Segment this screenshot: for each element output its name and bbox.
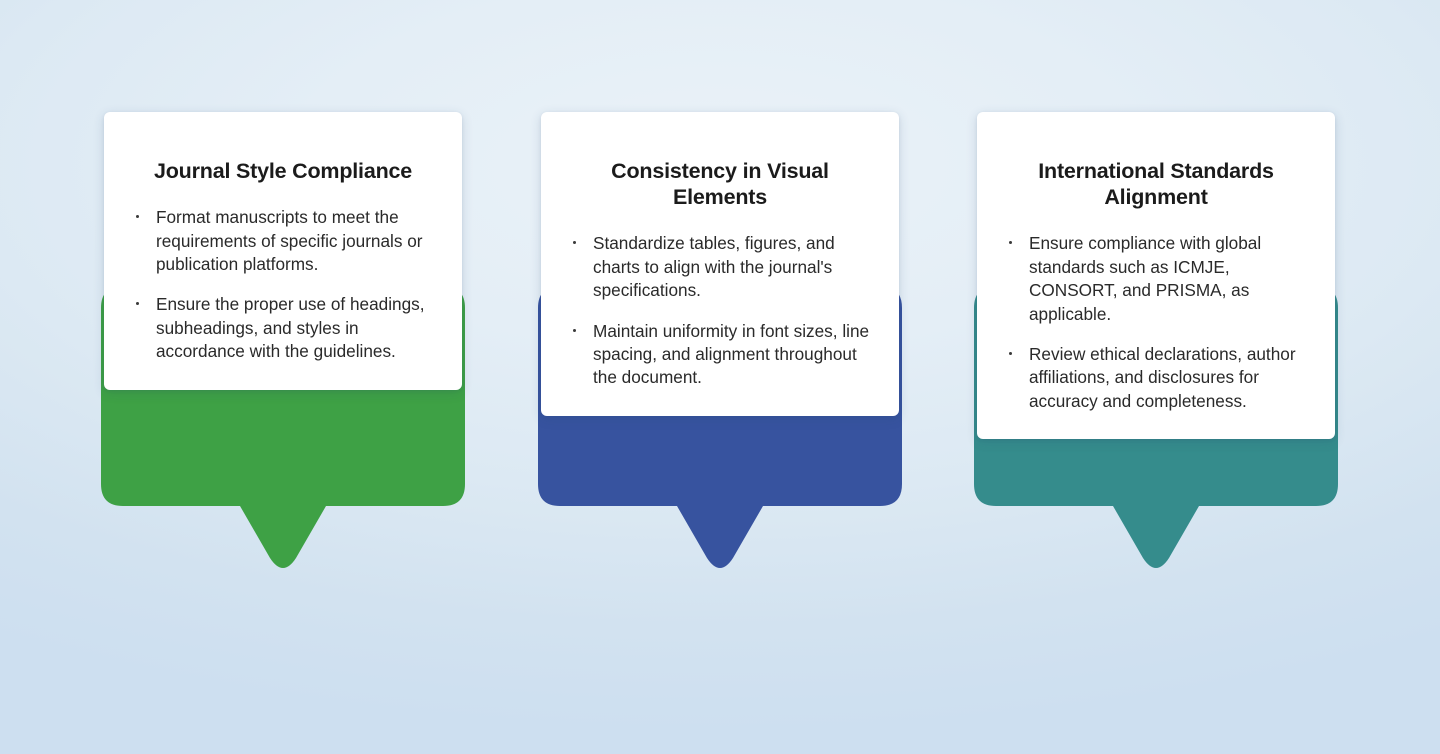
card-journal-style-compliance: Journal Style Compliance Format manuscri… [104, 112, 462, 390]
card-international-standards-alignment: International Standards Alignment Ensure… [977, 112, 1335, 439]
bullet-dot-icon [573, 241, 576, 244]
list-item: Standardize tables, figures, and charts … [567, 232, 873, 302]
card-title-2: Consistency in Visual Elements [567, 158, 873, 210]
bullet-list-3: Ensure compliance with global standards … [1003, 232, 1309, 413]
bullet-dot-icon [136, 215, 139, 218]
card-column-journal-style-compliance: Journal Style Compliance Format manuscri… [83, 0, 483, 754]
list-item: Ensure compliance with global standards … [1003, 232, 1309, 326]
bullet-dot-icon [1009, 352, 1012, 355]
card-consistency-in-visual-elements: Consistency in Visual Elements Standardi… [541, 112, 899, 416]
card-column-consistency-in-visual-elements: Consistency in Visual Elements Standardi… [520, 0, 920, 754]
list-item: Review ethical declarations, author affi… [1003, 343, 1309, 413]
bullet-dot-icon [136, 302, 139, 305]
list-item: Ensure the proper use of headings, subhe… [130, 293, 436, 363]
card-title-1: Journal Style Compliance [130, 158, 436, 184]
bullet-text: Maintain uniformity in font sizes, line … [593, 321, 869, 388]
bullet-text: Format manuscripts to meet the requireme… [156, 207, 423, 274]
bullet-text: Review ethical declarations, author affi… [1029, 344, 1296, 411]
bullet-text: Ensure compliance with global standards … [1029, 233, 1261, 323]
bullet-list-2: Standardize tables, figures, and charts … [567, 232, 873, 389]
bullet-dot-icon [1009, 241, 1012, 244]
bullet-text: Standardize tables, figures, and charts … [593, 233, 835, 300]
bullet-text: Ensure the proper use of headings, subhe… [156, 294, 425, 361]
card-column-international-standards-alignment: International Standards Alignment Ensure… [956, 0, 1356, 754]
bullet-dot-icon [573, 329, 576, 332]
bullet-list-1: Format manuscripts to meet the requireme… [130, 206, 436, 363]
infographic-stage: Journal Style Compliance Format manuscri… [0, 0, 1440, 754]
card-title-3: International Standards Alignment [1003, 158, 1309, 210]
list-item: Format manuscripts to meet the requireme… [130, 206, 436, 276]
list-item: Maintain uniformity in font sizes, line … [567, 320, 873, 390]
